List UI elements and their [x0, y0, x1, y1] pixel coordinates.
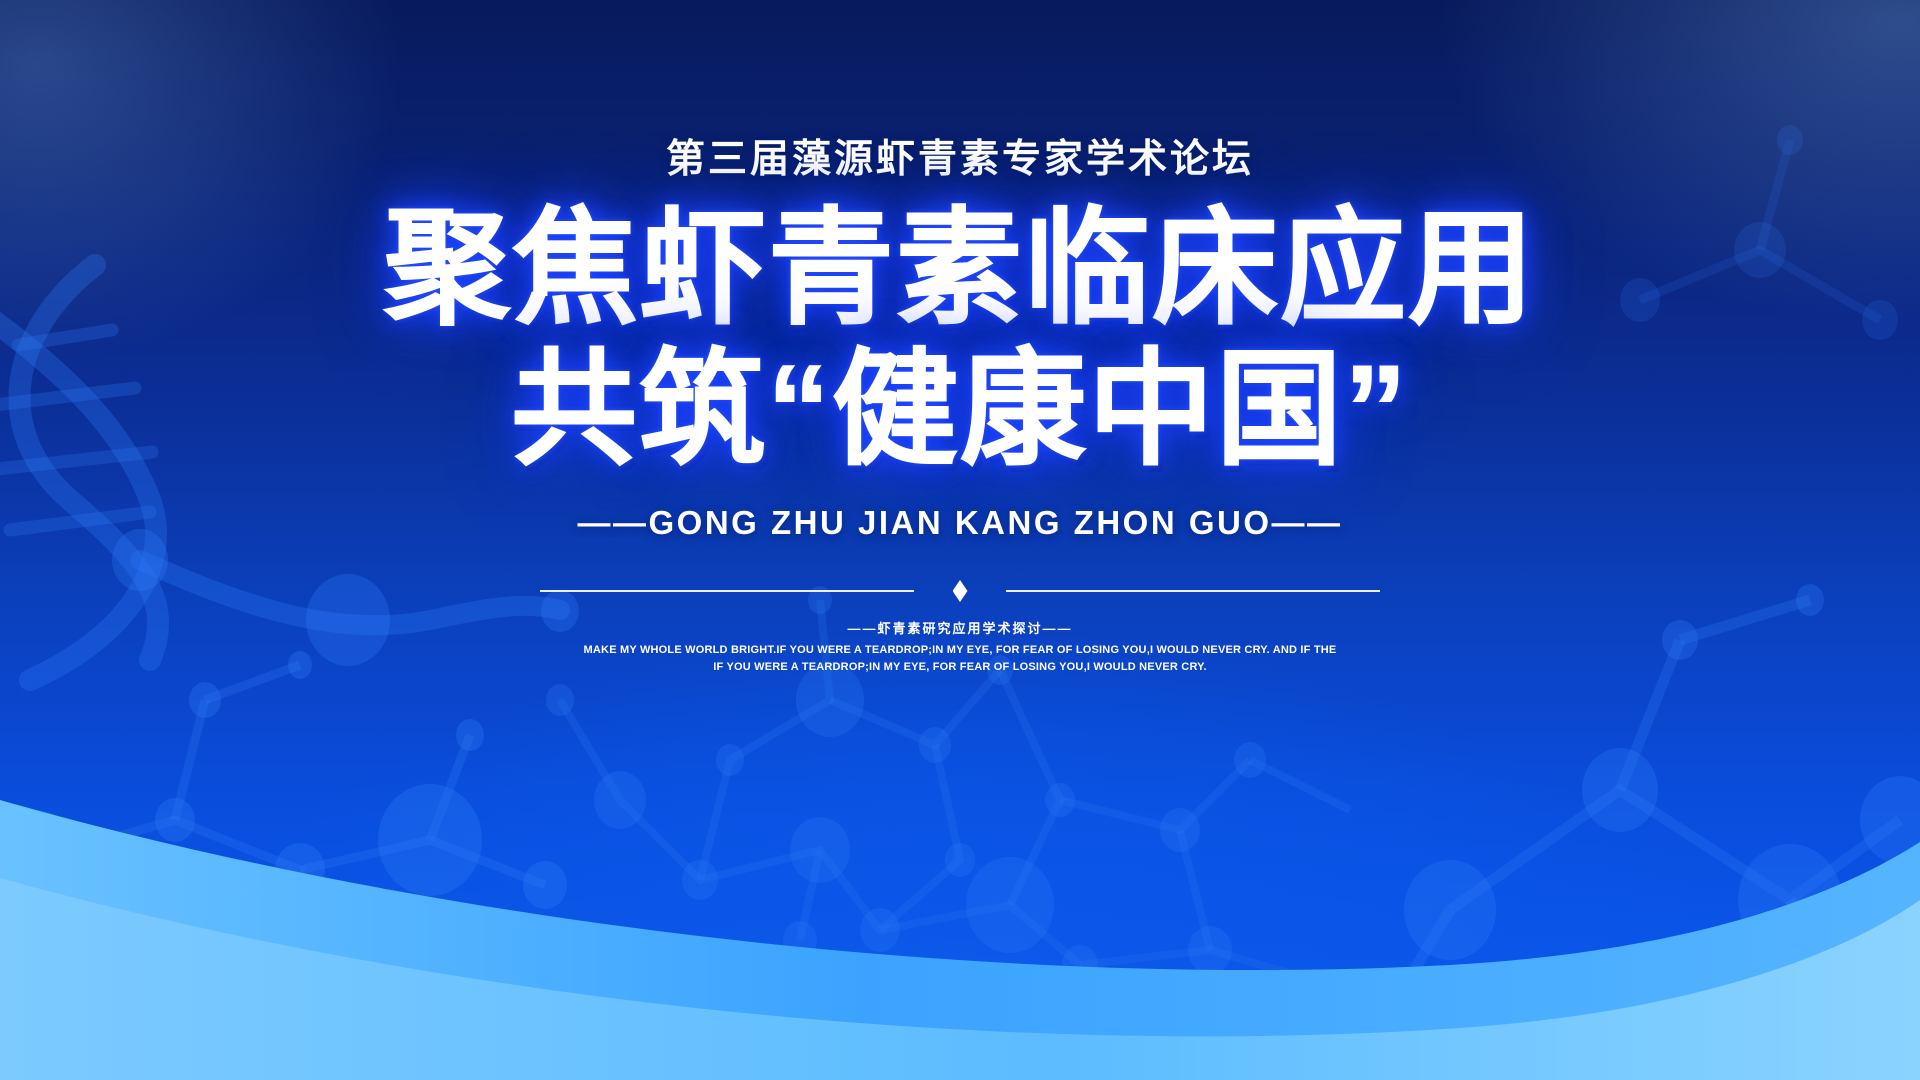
poster-content: 第三届藻源虾青素专家学术论坛 聚焦虾青素临床应用 共筑“健康中国” ——GONG… — [0, 0, 1920, 1080]
headline-line-1: 聚焦虾青素临床应用 — [384, 205, 1536, 334]
divider-line-right — [1006, 590, 1380, 592]
poster-canvas: 第三届藻源虾青素专家学术论坛 聚焦虾青素临床应用 共筑“健康中国” ——GONG… — [0, 0, 1920, 1080]
page-title: 聚焦虾青素临床应用 共筑“健康中国” — [384, 205, 1536, 474]
divider-line-left — [540, 590, 914, 592]
divider — [540, 580, 1380, 602]
headline-line-2: 共筑“健康中国” — [384, 346, 1536, 475]
pinyin-subtitle: ——GONG ZHU JIAN KANG ZHON GUO—— — [577, 504, 1342, 542]
blurb-line-1: MAKE MY WHOLE WORLD BRIGHT.IF YOU WERE A… — [435, 642, 1485, 659]
decorative-blurb: MAKE MY WHOLE WORLD BRIGHT.IF YOU WERE A… — [435, 642, 1485, 676]
event-eyebrow: 第三届藻源虾青素专家学术论坛 — [666, 140, 1254, 179]
topic-kicker: ——虾青素研究应用学术探讨—— — [847, 618, 1072, 637]
diamond-icon — [953, 580, 968, 602]
blurb-line-2: IF YOU WERE A TEARDROP;IN MY EYE, FOR FE… — [435, 659, 1485, 676]
